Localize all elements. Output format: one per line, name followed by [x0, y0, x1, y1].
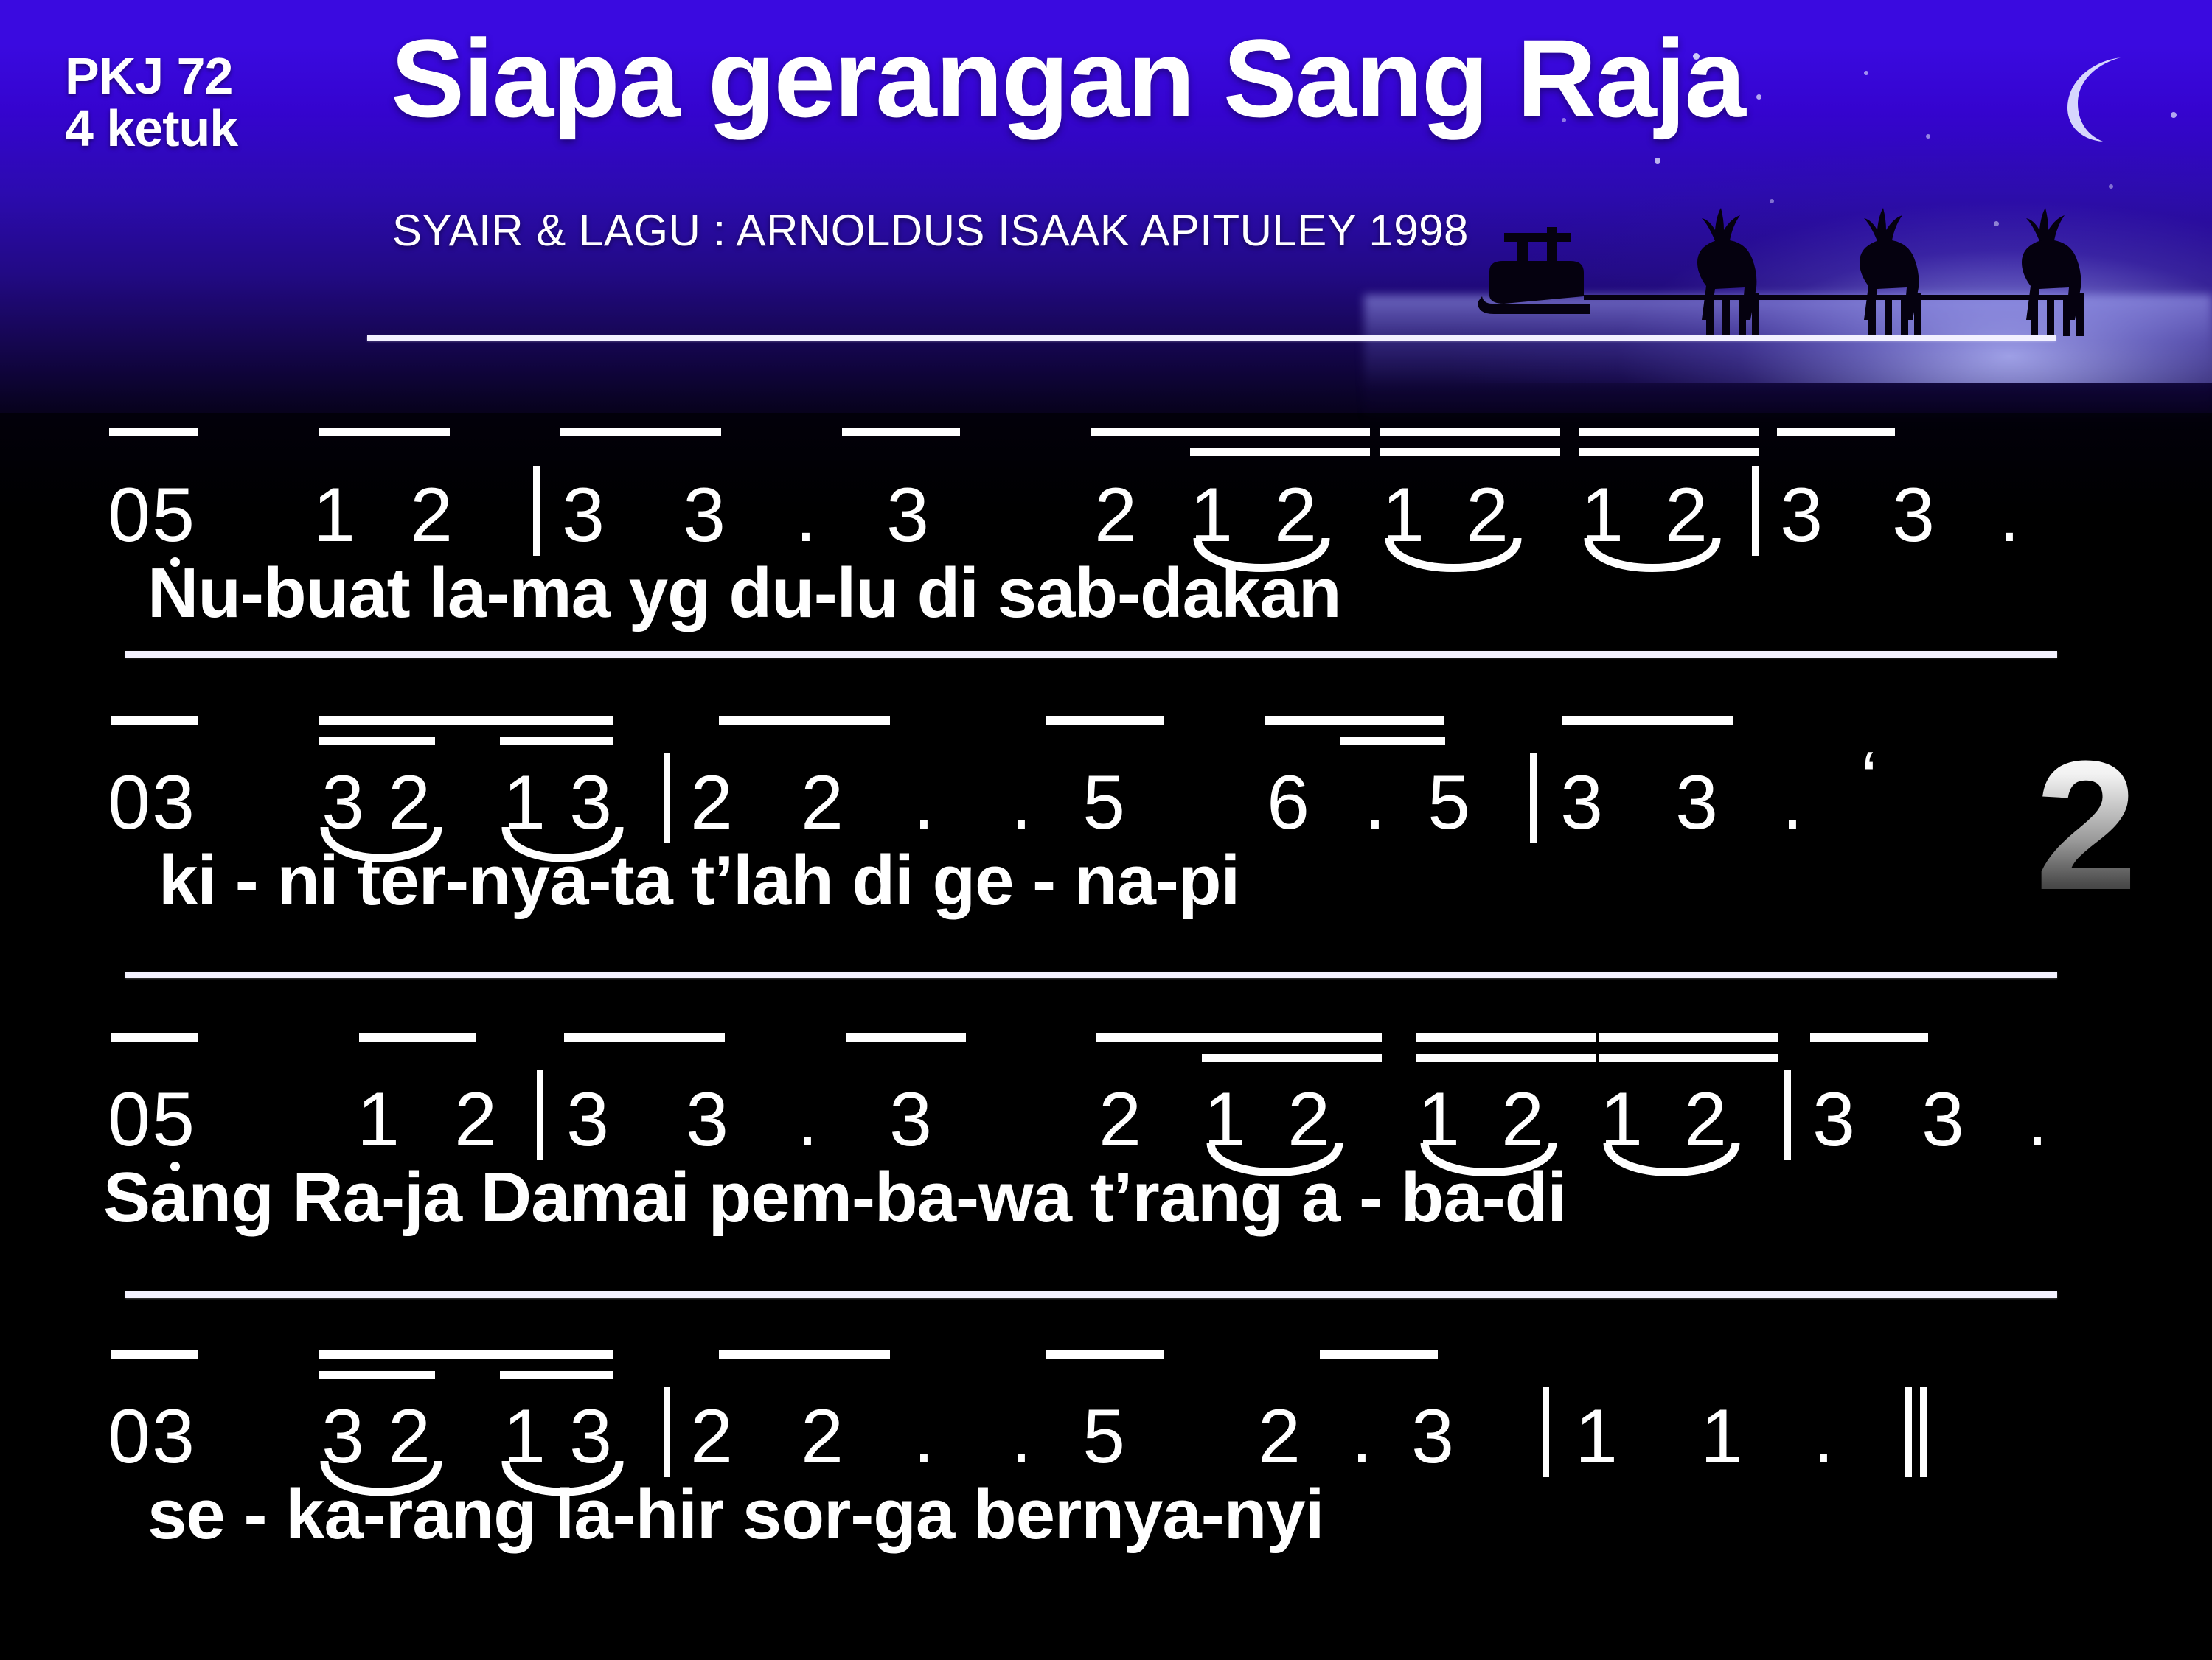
dot-extend: .	[898, 759, 950, 847]
dot-extend: .	[1336, 1393, 1388, 1481]
beam	[111, 716, 198, 725]
lyrics-row-3: Sang Ra-ja Damai pem-ba-wa t’rang a - ba…	[103, 1157, 2212, 1238]
dot-extend: .	[1983, 472, 2035, 559]
note: 3	[678, 472, 730, 559]
beam	[319, 428, 450, 436]
slide-header: PKJ 72 4 ketuk Siapa gerangan Sang Raja …	[0, 0, 2212, 354]
beam	[500, 737, 613, 745]
note: 3	[1671, 759, 1722, 847]
notation-row-4: 0 3 3 2 1 3 2 2 . . 5 2 . 3 1 1 .	[0, 1334, 2212, 1423]
score-line-3: 0 5 1 2 3 3 . 3 2 1 2 1 2 1 2	[0, 1017, 2212, 1238]
note: 3	[147, 759, 199, 847]
beam	[1202, 1054, 1382, 1062]
beam	[319, 1350, 613, 1359]
note: 3	[681, 1076, 733, 1164]
note: 2	[1094, 1076, 1146, 1164]
slide-canvas: PKJ 72 4 ketuk Siapa gerangan Sang Raja …	[0, 0, 2212, 1660]
beam	[1416, 1054, 1596, 1062]
header-divider	[367, 335, 2056, 341]
notation-row-2: 0 3 3 2 1 3 2 2 . . 5 6 . 5 3 3 .	[0, 700, 2212, 789]
note: 2	[1253, 1393, 1305, 1481]
lyrics-row-2: ki - ni ter-nya-ta t’lah di ge - na-pi	[159, 840, 2212, 921]
beam	[111, 1350, 198, 1359]
note: 2	[1090, 472, 1141, 559]
beam	[1190, 448, 1370, 456]
beam	[1046, 716, 1164, 725]
note: 3	[882, 472, 933, 559]
note: 3	[1556, 759, 1607, 847]
hymn-code-line2: 4 ketuk	[65, 102, 375, 155]
final-barline	[1905, 1387, 1912, 1477]
barline	[533, 466, 540, 556]
note: 2	[406, 472, 457, 559]
barline	[1784, 1070, 1791, 1160]
final-barline	[1920, 1387, 1927, 1477]
beam	[564, 1033, 725, 1042]
beam	[1579, 428, 1759, 436]
hymn-code: PKJ 72 4 ketuk	[65, 50, 375, 156]
beam	[319, 716, 613, 725]
credits-subtitle: SYAIR & LAGU : ARNOLDUS ISAAK APITULEY 1…	[392, 205, 2088, 256]
barline	[1530, 753, 1537, 843]
beam	[1579, 448, 1759, 456]
note: 5	[147, 472, 199, 559]
note: 3	[557, 472, 609, 559]
beam	[500, 1371, 613, 1379]
dot-extend: .	[1767, 759, 1818, 847]
dot-extend: .	[1349, 759, 1401, 847]
beam	[1380, 428, 1560, 436]
beam	[111, 1033, 198, 1042]
lyrics-row-4: se - ka-rang la-hir sor-ga bernya-nyi	[147, 1474, 2212, 1555]
note: 1	[1571, 1393, 1622, 1481]
note: 3	[1808, 1076, 1860, 1164]
note: 3	[562, 1076, 613, 1164]
beam	[1096, 1033, 1214, 1042]
score-line-4: 0 3 3 2 1 3 2 2 . . 5 2 . 3 1 1 .	[0, 1334, 2212, 1555]
beam	[359, 1033, 476, 1042]
beam	[1190, 428, 1370, 436]
beam	[719, 716, 890, 725]
dot-extend: .	[782, 1076, 833, 1164]
note: 1	[1696, 1393, 1747, 1481]
note: 5	[1078, 759, 1130, 847]
note: 3	[1407, 1393, 1458, 1481]
note: 6	[1262, 759, 1314, 847]
breath-mark: ‘	[1843, 736, 1895, 823]
dot-extend: .	[995, 1393, 1047, 1481]
page-title: Siapa gerangan Sang Raja	[391, 21, 2087, 137]
beam	[1320, 1350, 1438, 1359]
beam	[319, 737, 435, 745]
note: 2	[686, 759, 737, 847]
dot-extend: .	[995, 759, 1047, 847]
note: 5	[1423, 759, 1475, 847]
note: 2	[450, 1076, 501, 1164]
staff-divider	[125, 651, 2057, 658]
beam	[1380, 448, 1560, 456]
beam	[1599, 1054, 1778, 1062]
dot-extend: .	[780, 472, 832, 559]
beam	[1202, 1033, 1382, 1042]
lyrics-row-1: Nu-buat la-ma yg du-lu di sab-dakan	[147, 553, 2212, 634]
note: 3	[1775, 472, 1827, 559]
score-line-2: 0 3 3 2 1 3 2 2 . . 5 6 . 5 3 3 .	[0, 700, 2212, 921]
barline	[537, 1070, 543, 1160]
dot-extend: .	[2011, 1076, 2063, 1164]
beam	[1416, 1033, 1596, 1042]
beam	[1265, 716, 1444, 725]
beam	[1046, 1350, 1164, 1359]
note: 2	[796, 1393, 848, 1481]
note: 3	[1888, 472, 1939, 559]
barline	[664, 1387, 670, 1477]
beam	[1777, 428, 1895, 436]
staff-divider	[125, 1291, 2057, 1298]
note: 3	[147, 1393, 199, 1481]
beam	[1340, 737, 1445, 745]
hymn-code-line1: PKJ 72	[65, 47, 232, 105]
note: 2	[796, 759, 848, 847]
staff-divider	[125, 972, 2057, 978]
beam	[560, 428, 721, 436]
note: 3	[885, 1076, 936, 1164]
note: 3	[1917, 1076, 1969, 1164]
beam	[842, 428, 960, 436]
beam	[109, 428, 198, 436]
notation-row-3: 0 5 1 2 3 3 . 3 2 1 2 1 2 1 2	[0, 1017, 2212, 1106]
note: 1	[352, 1076, 404, 1164]
barline	[1752, 466, 1759, 556]
notation-row-1: 0 5 1 2 3 3 . 3 2 1 2 1 2 1 2	[0, 413, 2212, 501]
beam	[1599, 1033, 1778, 1042]
barline	[664, 753, 670, 843]
beam	[1562, 716, 1733, 725]
dot-extend: .	[898, 1393, 950, 1481]
note: 5	[1078, 1393, 1130, 1481]
beam	[719, 1350, 890, 1359]
beam	[1810, 1033, 1928, 1042]
beam	[846, 1033, 966, 1042]
note: 5	[147, 1076, 199, 1164]
barline	[1543, 1387, 1549, 1477]
score-line-1: 0 5 1 2 3 3 . 3 2 1 2 1 2 1 2	[0, 413, 2212, 634]
note: 2	[686, 1393, 737, 1481]
note: 1	[308, 472, 360, 559]
beam	[319, 1371, 435, 1379]
dot-extend: .	[1798, 1393, 1849, 1481]
